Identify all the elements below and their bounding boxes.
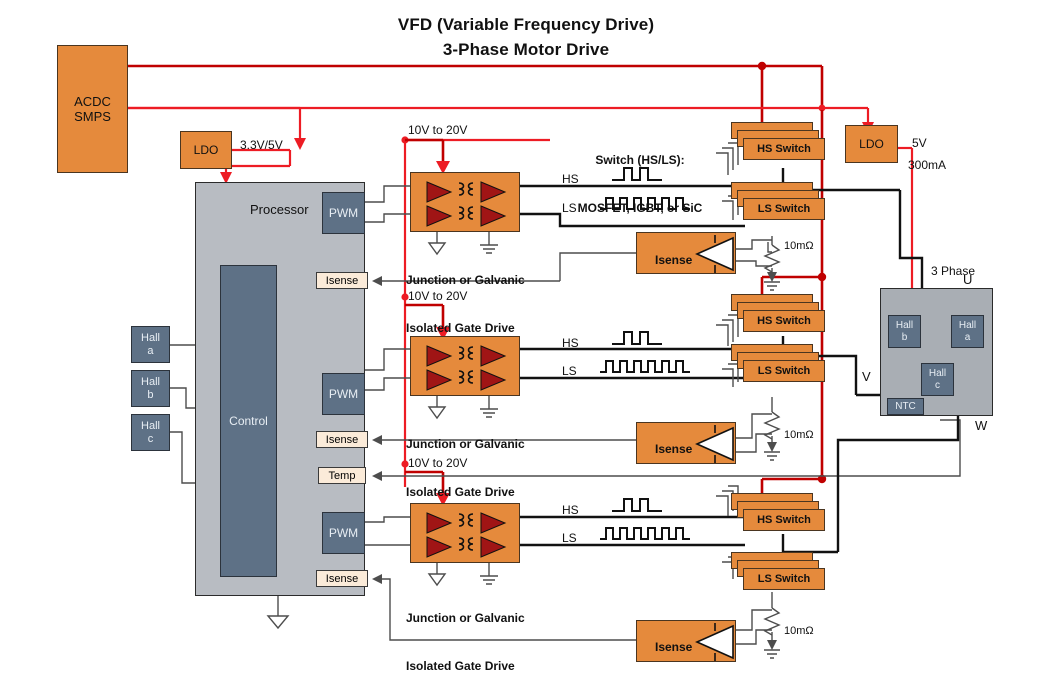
ldo-right-voltage-label: 5V	[912, 136, 927, 151]
isense-amplifier-label-2: Isense	[655, 442, 692, 457]
ntc-thermistor-label: NTC	[895, 401, 916, 412]
hs-switch-block-3: HS Switch	[743, 509, 825, 531]
ntc-thermistor-block: NTC	[887, 398, 924, 415]
motor-hall-sensor-c: Hall c	[921, 363, 954, 396]
shunt-resistor-label-2: 10mΩ	[784, 428, 814, 443]
ls-switch-label-2: LS Switch	[758, 365, 811, 377]
isense-amplifier-label-3: Isense	[655, 640, 692, 655]
motor-hall-sensor-b: Hall b	[888, 315, 921, 348]
motor-title-line1: 3 Phase	[920, 263, 986, 279]
ldo-right-block: LDO	[845, 125, 898, 163]
hs-switch-label-2: HS Switch	[757, 315, 811, 327]
hs-switch-block-1: HS Switch	[743, 138, 825, 160]
isense-amplifier-label-1: Isense	[655, 253, 692, 268]
motor-phase-u-label: U	[963, 272, 972, 287]
motor-hall-sensor-a-label: Hall a	[959, 320, 976, 344]
ls-switch-block-3: LS Switch	[743, 568, 825, 590]
ldo-right-current-label: 300mA	[908, 158, 946, 173]
ls-switch-label-1: LS Switch	[758, 203, 811, 215]
shunt-resistor-label-1: 10mΩ	[784, 239, 814, 254]
motor-hall-sensor-a: Hall a	[951, 315, 984, 348]
motor-hall-sensor-b-label: Hall b	[896, 320, 913, 344]
ls-switch-block-2: LS Switch	[743, 360, 825, 382]
ls-switch-label-3: LS Switch	[758, 573, 811, 585]
shunt-resistor-label-3: 10mΩ	[784, 624, 814, 639]
bldc-motor-block	[880, 288, 993, 416]
hs-switch-label-1: HS Switch	[757, 143, 811, 155]
ldo-right-label: LDO	[859, 137, 884, 151]
vfd-block-diagram: VFD (Variable Frequency Drive) 3-Phase M…	[0, 0, 1052, 680]
motor-phase-v-label: V	[862, 369, 871, 384]
hs-switch-block-2: HS Switch	[743, 310, 825, 332]
hs-switch-label-3: HS Switch	[757, 514, 811, 526]
ls-switch-block-1: LS Switch	[743, 198, 825, 220]
motor-phase-w-label: W	[975, 418, 987, 433]
motor-hall-sensor-c-label: Hall c	[929, 368, 946, 392]
